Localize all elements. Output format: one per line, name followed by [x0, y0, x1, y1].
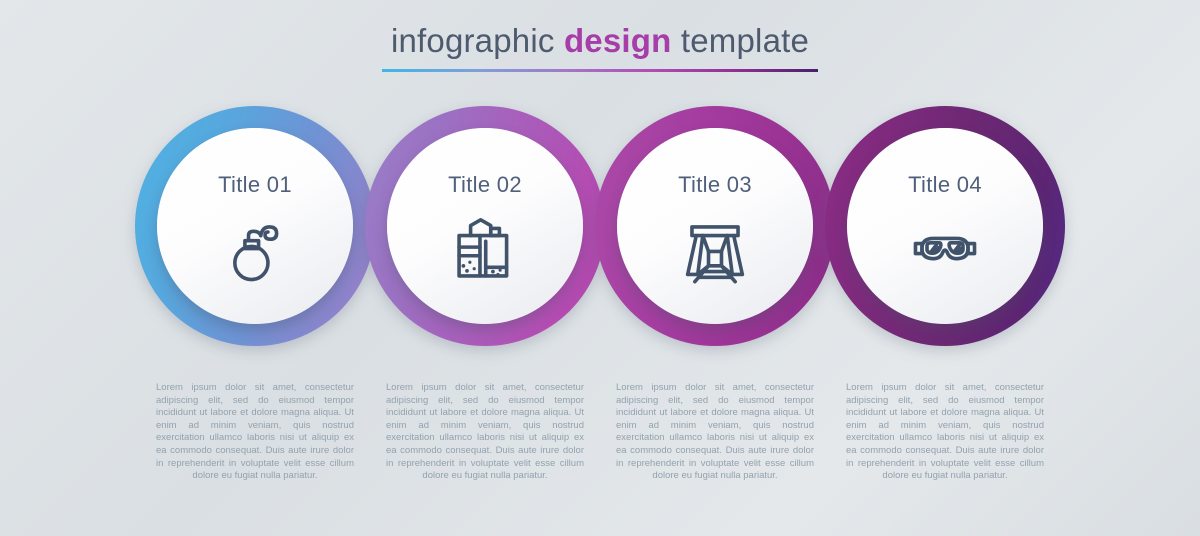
page-title: infographic design template — [0, 22, 1200, 60]
step-3-title: Title 03 — [678, 172, 752, 198]
safety-goggles-icon — [907, 212, 983, 288]
step-3[interactable]: Title 03 Lorem ipsum dolor sit amet, c — [595, 106, 835, 506]
mine-tunnel-icon — [677, 212, 753, 288]
mine-building-icon — [447, 212, 523, 288]
step-2[interactable]: Title 02 — [365, 106, 605, 506]
page-title-part2: template — [672, 22, 810, 59]
header-gradient-rule — [382, 69, 818, 72]
header: infographic design template — [0, 22, 1200, 72]
step-2-body: Lorem ipsum dolor sit amet, consectetur … — [361, 382, 609, 483]
page-title-accent: design — [564, 22, 672, 59]
step-1-body: Lorem ipsum dolor sit amet, consectetur … — [131, 382, 379, 483]
step-4[interactable]: Title 04 Lorem ipsum dolor sit amet, con… — [825, 106, 1065, 506]
steps-row: Title 01 Lorem ipsum dolor sit amet, con… — [0, 106, 1200, 506]
step-1-disc[interactable]: Title 01 — [157, 128, 353, 324]
page-title-part1: infographic — [391, 22, 564, 59]
step-2-title: Title 02 — [448, 172, 522, 198]
step-2-disc[interactable]: Title 02 — [387, 128, 583, 324]
step-1[interactable]: Title 01 Lorem ipsum dolor sit amet, con… — [135, 106, 375, 506]
bomb-icon — [217, 212, 293, 288]
step-4-body: Lorem ipsum dolor sit amet, consectetur … — [821, 382, 1069, 483]
step-1-title: Title 01 — [218, 172, 292, 198]
step-4-title: Title 04 — [908, 172, 982, 198]
step-3-disc[interactable]: Title 03 — [617, 128, 813, 324]
step-3-body: Lorem ipsum dolor sit amet, consectetur … — [591, 382, 839, 483]
step-4-disc[interactable]: Title 04 — [847, 128, 1043, 324]
